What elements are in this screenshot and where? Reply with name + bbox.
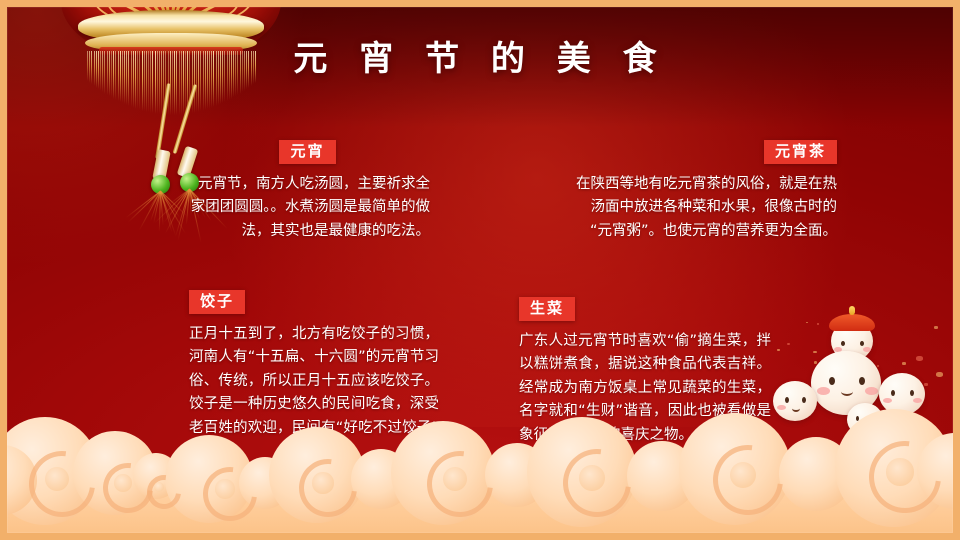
- section-yuanxiao: 元宵 元宵节，南方人吃汤圆，主要祈求全家团团圆圆。。水煮汤圆是最简单的做法，其实…: [185, 140, 430, 243]
- tag-row-shengcai: 生菜: [519, 297, 771, 321]
- tangyuan-eye: [841, 341, 845, 346]
- tangyuan-cheek: [863, 347, 871, 352]
- tag-yuanxiao[interactable]: 元宵: [279, 140, 335, 164]
- slide-canvas: 元 宵 节 的 美 食 元宵 元宵节，南方人吃汤圆，主要祈求全家团团圆圆。。水煮…: [0, 0, 960, 540]
- body-yuanxiao: 元宵节，南方人吃汤圆，主要祈求全家团团圆圆。。水煮汤圆是最简单的做法，其实也是最…: [185, 173, 430, 243]
- confetti-speck: [787, 343, 791, 345]
- confetti-speck: [806, 322, 808, 324]
- confetti-speck: [814, 361, 817, 363]
- tag-row-yuanxiaocha: 元宵茶: [569, 140, 837, 164]
- page-title: 元 宵 节 的 美 食: [7, 31, 953, 80]
- confetti-speck: [813, 351, 817, 354]
- cloud-decoration: [7, 383, 953, 533]
- confetti-speck: [777, 349, 779, 351]
- cloud-swirl-center: [579, 465, 605, 491]
- tag-yuanxiaocha[interactable]: 元宵茶: [764, 140, 837, 164]
- cloud-swirl-center: [886, 458, 913, 485]
- confetti-speck: [877, 365, 879, 366]
- cloud-swirl-center: [215, 479, 234, 498]
- cloud-swirl-center: [312, 472, 333, 493]
- confetti-speck: [936, 372, 943, 377]
- cloud-swirl-center: [114, 474, 132, 492]
- confetti-speck: [916, 356, 923, 361]
- tag-row-jiaozi: 饺子: [189, 290, 439, 314]
- lantern-tassel-thread: [139, 191, 161, 231]
- confetti-speck: [934, 326, 938, 329]
- tag-shengcai[interactable]: 生菜: [519, 297, 575, 321]
- tangyuan-eye: [860, 341, 864, 346]
- tangyuan-hat: [829, 314, 875, 331]
- tag-row-yuanxiao: 元宵: [185, 140, 430, 164]
- confetti-speck: [817, 323, 820, 325]
- body-yuanxiaocha: 在陕西等地有吃元宵茶的风俗，就是在热汤面中放进各种菜和水果，很像古时的“元宵粥”…: [569, 173, 837, 243]
- section-yuanxiaocha: 元宵茶 在陕西等地有吃元宵茶的风俗，就是在热汤面中放进各种菜和水果，很像古时的“…: [569, 140, 837, 243]
- confetti-speck: [902, 362, 906, 365]
- tangyuan-hat-knob: [849, 306, 855, 315]
- tag-jiaozi[interactable]: 饺子: [189, 290, 245, 314]
